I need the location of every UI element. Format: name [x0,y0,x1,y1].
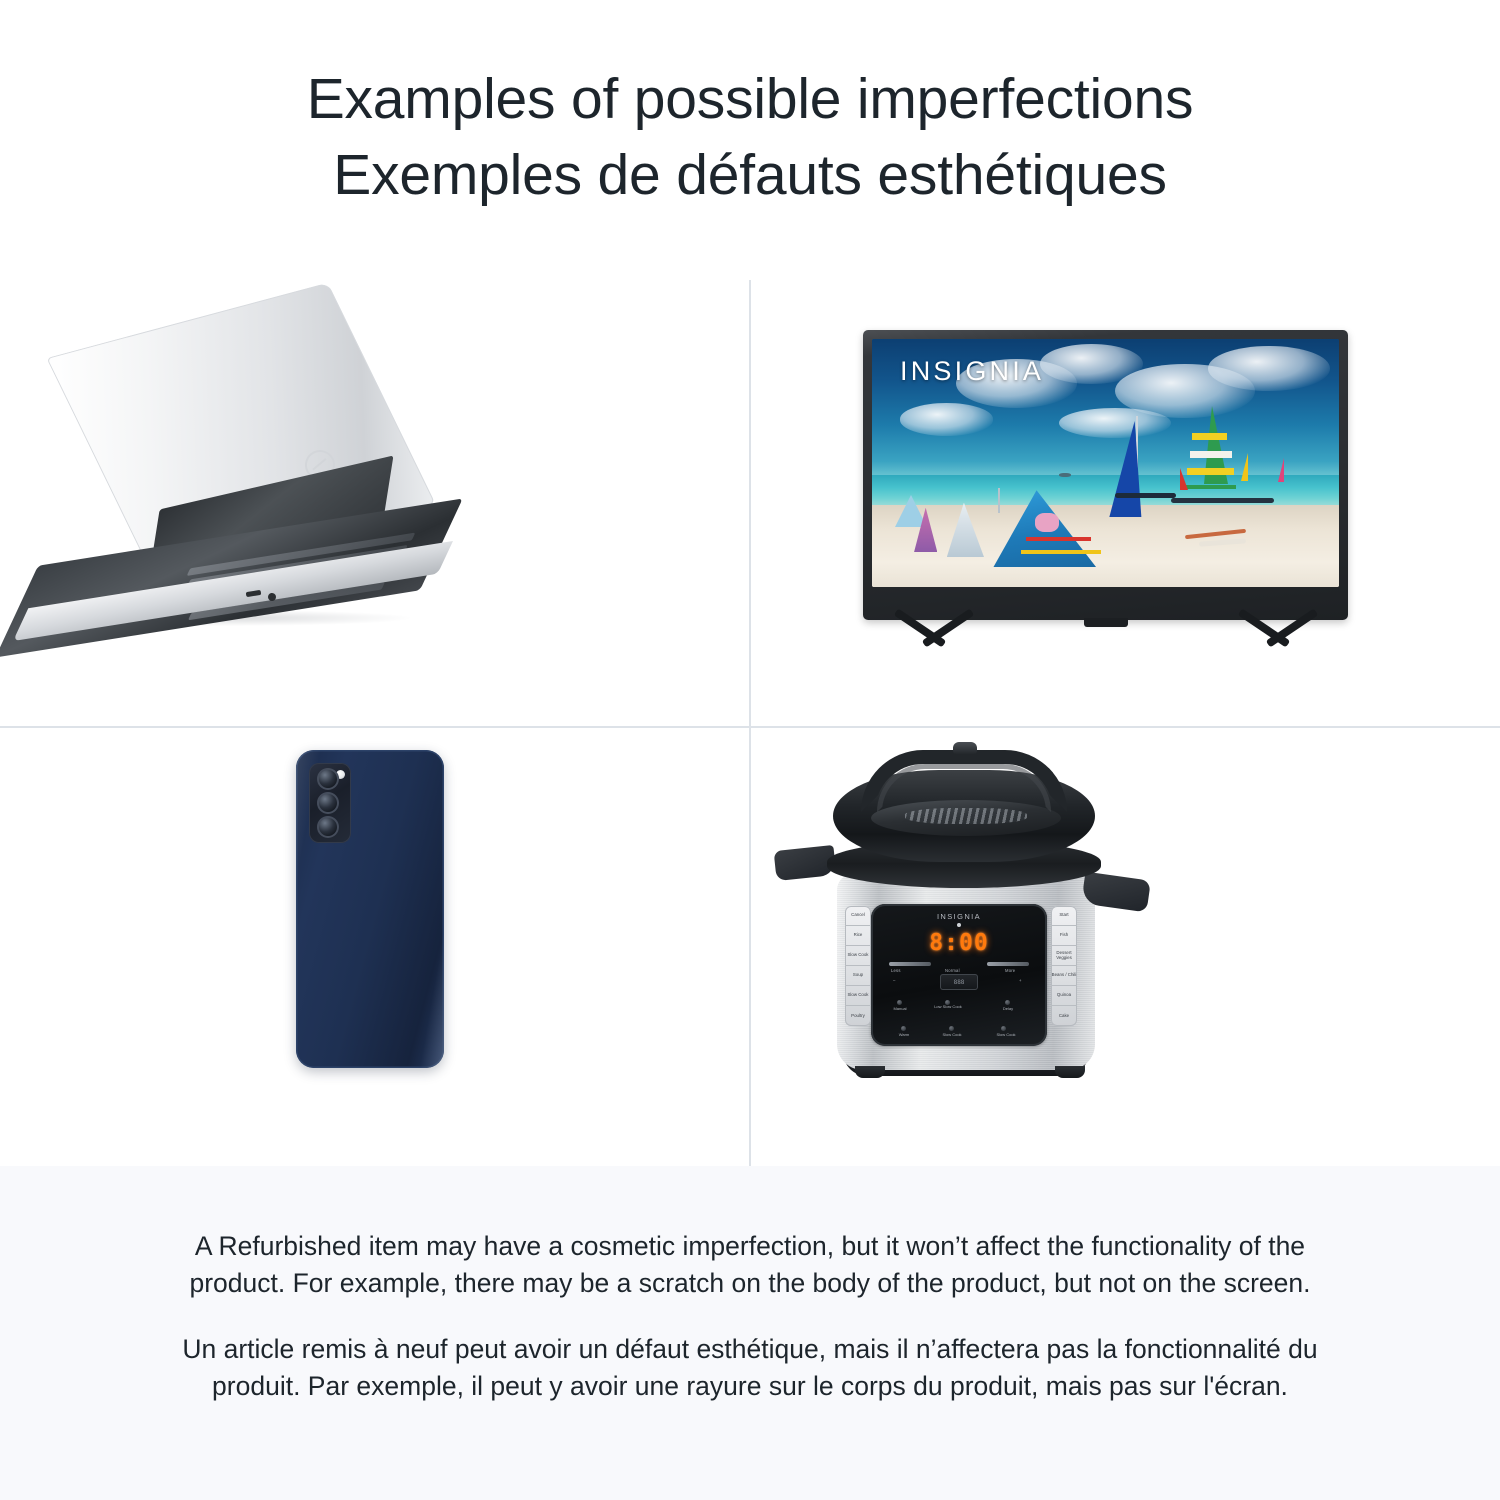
grid-cell-laptop [0,280,749,726]
camera-lens-icon [317,816,339,838]
page-title-fr: Exemples de défauts esthétiques [0,138,1500,214]
cooker-brand-text: INSIGNIA [871,912,1047,921]
laptop-illustration [0,280,749,726]
cooker-progress-bar-left [889,962,931,966]
cooker-side-button[interactable]: Start [1051,906,1077,926]
screen-sea [872,475,1339,507]
cooker-button-label: Delay [993,1007,1023,1012]
television-center-badge [1084,618,1128,627]
cooker-side-button[interactable]: Fish [1051,926,1077,946]
screen-cloud [1208,346,1329,391]
cooker-control-panel[interactable]: INSIGNIA 8:00 Less Normal More 888 – + [871,904,1047,1046]
screen-sail-amber [1241,453,1248,481]
pressure-cooker-illustration: INSIGNIA 8:00 Less Normal More 888 – + [751,728,1500,1174]
cooker-side-button[interactable]: Poultry [845,1006,871,1026]
screen-tent-patch [1035,513,1058,533]
screen-sailboat-blue [1102,421,1141,517]
cooker-foot [1055,1066,1085,1078]
page-title: Examples of possible imperfections Exemp… [0,62,1500,214]
screen-sail-pink [1278,458,1284,482]
screen-tent-stripe-yellow [1021,550,1100,554]
cooker-side-button[interactable]: Rice [845,926,871,946]
cooker-secondary-display: 888 [940,974,978,990]
smartphone-camera-module [309,763,351,843]
screen-distant-boat [1059,473,1071,477]
screen-cloud [900,403,993,435]
screen-sail-stripe-green [1185,485,1236,489]
television-body: INSIGNIA [863,330,1348,620]
cooker-side-button[interactable]: Quinoa [1051,986,1077,1006]
television-illustration: INSIGNIA [751,280,1500,726]
cooker-side-button[interactable]: Slow Cook [845,986,871,1006]
cooker-button-label: Slow Cook [989,1033,1023,1038]
cooker-button[interactable] [949,1026,954,1031]
cooker-label-less: Less [891,968,901,973]
grid-cell-television: INSIGNIA [751,280,1500,726]
smartphone-body [296,750,444,1068]
cooker-button-label: Warm [889,1033,919,1038]
cooker-side-button[interactable]: Slow Cook [845,946,871,966]
cooker-label-normal: Normal [945,968,960,973]
footer-description: A Refurbished item may have a cosmetic i… [0,1166,1500,1500]
grid-cell-pressure-cooker: INSIGNIA 8:00 Less Normal More 888 – + [751,728,1500,1174]
cooker-plus-icon: + [1019,978,1022,983]
cooker-side-button[interactable]: Cake [1051,1006,1077,1026]
cooker-button-label: Slow Cook [937,1033,967,1038]
cooker-side-button[interactable]: Dessert Veggies [1051,946,1077,966]
cooker-pressure-valve-icon [953,742,977,754]
cooker-minus-icon: – [893,978,896,983]
cooker-side-button[interactable]: Soup [845,966,871,986]
cooker-indicator-light [957,923,961,927]
cooker-button[interactable] [901,1026,906,1031]
imperfections-infographic: Examples of possible imperfections Exemp… [0,0,1500,1500]
cooker-button-label: Manual [885,1007,915,1012]
grid-cell-smartphone [0,728,749,1174]
screen-sail-stripe-yellow [1187,468,1234,475]
footer-paragraph-fr: Un article remis à neuf peut avoir un dé… [150,1331,1350,1404]
screen-boat-hull [1171,498,1274,503]
cooker-button[interactable] [1001,1026,1006,1031]
television-screen-brand-text: INSIGNIA [900,356,1044,387]
camera-lens-icon [317,792,339,814]
cooker-label-more: More [1005,968,1015,973]
cooker-foot [855,1066,885,1078]
cooker-side-button[interactable]: Cancel [845,906,871,926]
screen-sail-red [1180,468,1188,490]
cooker-right-button-column[interactable]: Start Fish Dessert Veggies Beans / Chili… [1051,906,1077,1026]
cooker-led-display: 8:00 [927,930,991,956]
cooker-progress-bar-right [987,962,1029,966]
cooker-button[interactable] [1005,1000,1010,1005]
screen-sail-stripe-yellow [1192,433,1227,440]
cooker-button-label: Low Slow Cook [933,1005,963,1010]
cooker-button[interactable] [897,1000,902,1005]
screen-tent-pole [998,488,1000,513]
screen-boat-hull [1115,493,1176,498]
cooker-left-button-column[interactable]: Cancel Rice Slow Cook Soup Slow Cook Pou… [845,906,871,1026]
screen-tent-stripe-red [1026,537,1091,541]
footer-paragraph-en: A Refurbished item may have a cosmetic i… [150,1228,1350,1301]
screen-sand [872,505,1339,587]
screen-sail-stripe-white [1190,451,1232,458]
cooker-lid-handle-inner [877,764,1051,812]
smartphone-illustration [0,728,749,1174]
page-title-en: Examples of possible imperfections [0,62,1500,138]
television-screen: INSIGNIA [872,339,1339,587]
cooker-side-button[interactable]: Beans / Chili [1051,966,1077,986]
product-examples-grid: INSIGNIA [0,280,1500,1166]
camera-lens-icon [317,768,339,790]
